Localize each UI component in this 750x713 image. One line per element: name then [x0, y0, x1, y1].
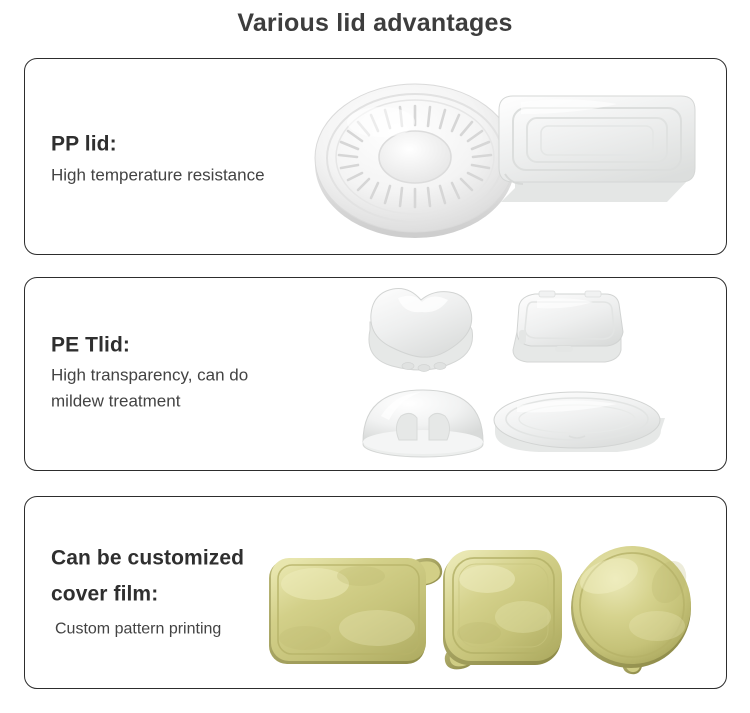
pp-lid-text-block: PP lid: High temperature resistance: [51, 133, 351, 188]
pe-lid-description-line-2: mildew treatment: [51, 389, 351, 415]
page-title: Various lid advantages: [0, 9, 750, 38]
cover-film-title-line-2: cover film:: [51, 582, 351, 606]
gold-round-foil-lid-image: [565, 542, 710, 678]
cover-film-title-line-1: Can be customized: [51, 547, 351, 571]
pe-lid-title: PE Tlid:: [51, 333, 351, 357]
card-pp-lid: PP lid: High temperature resistance: [24, 58, 727, 255]
card-cover-film: Can be customized cover film: Custom pat…: [24, 496, 727, 689]
pe-lid-text-block: PE Tlid: High transparency, can do milde…: [51, 333, 351, 414]
rectangular-pp-lid-image: [491, 82, 706, 222]
heart-pe-lid-image: [358, 282, 488, 378]
square-pe-lid-image: [509, 286, 631, 374]
dome-pe-lid-image: [359, 382, 487, 464]
cover-film-text-block: Can be customized cover film: Custom pat…: [51, 547, 351, 642]
oval-pe-lid-image: [491, 388, 665, 458]
pp-lid-description: High temperature resistance: [51, 162, 351, 188]
gold-square-foil-lid-image: [435, 545, 575, 673]
pp-lid-title: PP lid:: [51, 133, 351, 157]
card-pe-lid: PE Tlid: High transparency, can do milde…: [24, 277, 727, 471]
pe-lid-description-line-1: High transparency, can do: [51, 363, 351, 389]
cover-film-description: Custom pattern printing: [51, 618, 351, 642]
